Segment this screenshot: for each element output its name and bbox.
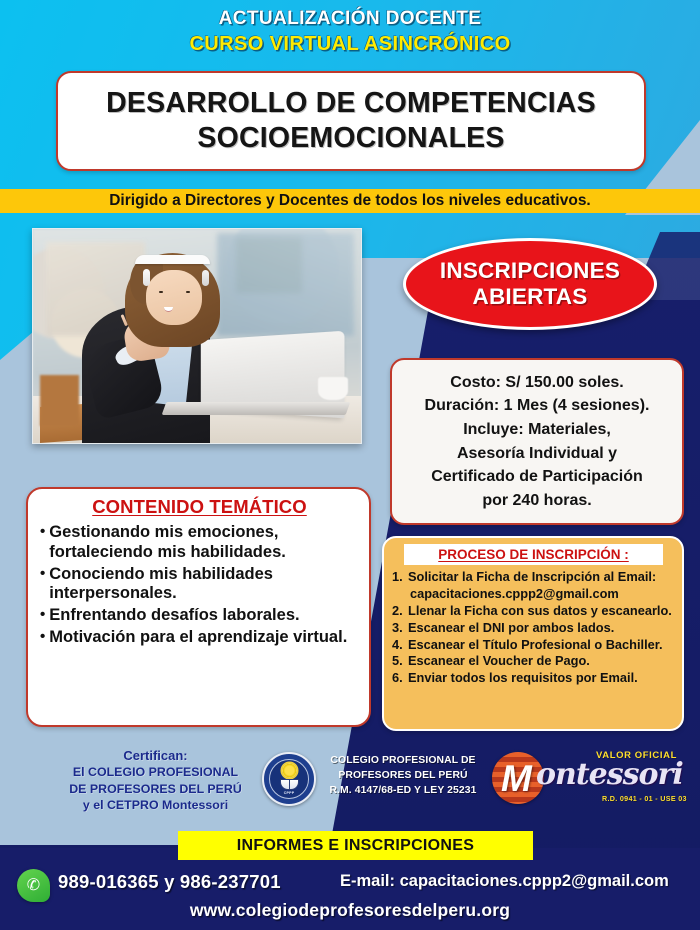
process-step-number: 5. — [392, 653, 404, 669]
institution-block: COLEGIO PROFESIONAL DE PROFESORES DEL PE… — [318, 754, 488, 798]
process-step-text: Escanear el Voucher de Pago. — [408, 653, 590, 669]
registration-open-badge: INSCRIPCIONES ABIERTAS — [403, 238, 657, 330]
process-step-email[interactable]: capacitaciones.cppp2@gmail.com — [392, 586, 675, 602]
process-step-text: Solicitar la Ficha de Inscripción al Ema… — [408, 569, 656, 585]
certification-block: Certifican: El COLEGIO PROFESIONAL DE PR… — [48, 748, 263, 814]
process-step-text: Escanear el DNI por ambos lados. — [408, 620, 614, 636]
photo-headphone-cup-left — [143, 269, 151, 286]
badge-line-2: ABIERTAS — [473, 284, 588, 310]
header-block: ACTUALIZACIÓN DOCENTE CURSO VIRTUAL ASIN… — [0, 8, 700, 56]
informes-banner-text: INFORMES E INSCRIPCIONES — [237, 837, 474, 855]
bullet-icon: • — [40, 565, 45, 584]
cost-line-hours: por 240 horas. — [482, 489, 591, 513]
cost-line-certificate: Certificado de Participación — [431, 465, 643, 489]
institution-line-1: COLEGIO PROFESIONAL DE — [318, 754, 488, 769]
process-step: 5. Escanear el Voucher de Pago. — [392, 653, 675, 669]
bullet-icon: • — [40, 628, 45, 647]
course-title-line-2: SOCIOEMOCIONALES — [197, 121, 504, 156]
cost-line-advisory: Asesoría Individual y — [457, 442, 617, 466]
registration-process-box: PROCESO DE INSCRIPCIÓN : 1. Solicitar la… — [382, 536, 684, 731]
process-step-number: 3. — [392, 620, 404, 636]
content-item-text: Enfrentando desafíos laborales. — [49, 606, 299, 626]
process-step-number: 1. — [392, 569, 404, 585]
whatsapp-icon[interactable]: ✆ — [17, 869, 50, 902]
photo-headphone-cup-right — [202, 270, 209, 286]
montessori-rd-code: R.D. 0941 - 01 - USE 03 — [602, 794, 687, 803]
header-line-1: ACTUALIZACIÓN DOCENTE — [0, 8, 700, 30]
certify-line-2: DE PROFESORES DEL PERÚ — [48, 781, 263, 798]
photo-coffee-cup — [318, 377, 348, 401]
header-line-2: CURSO VIRTUAL ASINCRÓNICO — [0, 33, 700, 56]
montessori-letter-m: M — [501, 760, 532, 797]
cppp-seal-logo: CPPP — [262, 752, 316, 806]
content-list-item: • Motivación para el aprendizaje virtual… — [40, 628, 359, 648]
seal-abbrev: CPPP — [284, 791, 295, 795]
photo-laptop-base — [162, 402, 350, 415]
institution-line-3: R.M. 4147/68-ED Y LEY 25231 — [318, 784, 488, 799]
photo-headphone-band — [135, 255, 210, 264]
audience-banner: Dirigido a Directores y Docentes de todo… — [0, 189, 700, 213]
contact-bar: ✆ 989-016365 y 986-237701 E-mail: capaci… — [0, 860, 700, 930]
seal-inner-disc: CPPP — [269, 759, 309, 799]
thematic-content-box: CONTENIDO TEMÁTICO • Gestionando mis emo… — [26, 487, 371, 727]
content-item-text: Motivación para el aprendizaje virtual. — [49, 628, 347, 648]
process-step-number: 6. — [392, 670, 404, 686]
process-step: 6. Enviar todos los requisitos por Email… — [392, 670, 675, 686]
process-step: 2. Llenar la Ficha con sus datos y escan… — [392, 603, 675, 619]
content-item-text: Gestionando mis emociones, fortaleciendo… — [49, 523, 359, 563]
process-step: 4. Escanear el Título Profesional o Bach… — [392, 637, 675, 653]
process-step-number: 2. — [392, 603, 404, 619]
content-item-text: Conociendo mis habilidades interpersonal… — [49, 565, 359, 605]
cost-line-includes: Incluye: Materiales, — [463, 418, 611, 442]
audience-banner-text: Dirigido a Directores y Docentes de todo… — [109, 192, 591, 210]
contact-phone-numbers[interactable]: 989-016365 y 986-237701 — [58, 871, 281, 893]
photo-person-face — [146, 270, 202, 326]
institution-line-2: PROFESORES DEL PERÚ — [318, 769, 488, 784]
process-step-number: 4. — [392, 637, 404, 653]
process-step: 1. Solicitar la Ficha de Inscripción al … — [392, 569, 675, 585]
montessori-valor-oficial: VALOR OFICIAL — [596, 750, 677, 761]
montessori-logo: M ontessori VALOR OFICIAL R.D. 0941 - 01… — [492, 748, 692, 810]
contact-website[interactable]: www.colegiodeprofesoresdelperu.org — [0, 900, 700, 921]
contact-email[interactable]: E-mail: capacitaciones.cppp2@gmail.com — [340, 872, 669, 891]
process-step-text: Enviar todos los requisitos por Email. — [408, 670, 638, 686]
sun-icon — [282, 763, 297, 778]
bullet-icon: • — [40, 606, 45, 625]
content-list-item: • Gestionando mis emociones, fortalecien… — [40, 523, 359, 563]
certify-heading: Certifican: — [48, 748, 263, 763]
cost-line-duration: Duración: 1 Mes (4 sesiones). — [425, 394, 650, 418]
open-book-icon — [280, 779, 299, 790]
process-step: 3. Escanear el DNI por ambos lados. — [392, 620, 675, 636]
cost-details-box: Costo: S/ 150.00 soles. Duración: 1 Mes … — [390, 358, 684, 525]
course-title-box: DESARROLLO DE COMPETENCIAS SOCIOEMOCIONA… — [56, 71, 646, 171]
whatsapp-phone-glyph: ✆ — [26, 877, 42, 895]
photo-person-eye-right — [186, 291, 190, 293]
course-title-line-1: DESARROLLO DE COMPETENCIAS — [106, 86, 596, 121]
content-list-item: • Conociendo mis habilidades interperson… — [40, 565, 359, 605]
process-title-wrapper: PROCESO DE INSCRIPCIÓN : — [404, 544, 663, 565]
thematic-content-title: CONTENIDO TEMÁTICO — [40, 496, 359, 518]
certify-line-3: y el CETPRO Montessori — [48, 797, 263, 814]
certify-line-1: El COLEGIO PROFESIONAL — [48, 764, 263, 781]
bullet-icon: • — [40, 523, 45, 542]
informes-banner: INFORMES E INSCRIPCIONES — [178, 831, 533, 860]
photo-window-right — [217, 233, 355, 336]
process-step-text: Escanear el Título Profesional o Bachill… — [408, 637, 663, 653]
course-photo — [32, 228, 362, 444]
photo-chair — [40, 375, 79, 426]
badge-line-1: INSCRIPCIONES — [440, 258, 620, 284]
cost-line-cost: Costo: S/ 150.00 soles. — [450, 371, 623, 395]
montessori-script-text: ontessori — [536, 760, 683, 790]
process-title: PROCESO DE INSCRIPCIÓN : — [438, 547, 629, 562]
process-step-text: Llenar la Ficha con sus datos y escanear… — [408, 603, 672, 619]
content-list-item: • Enfrentando desafíos laborales. — [40, 606, 359, 626]
